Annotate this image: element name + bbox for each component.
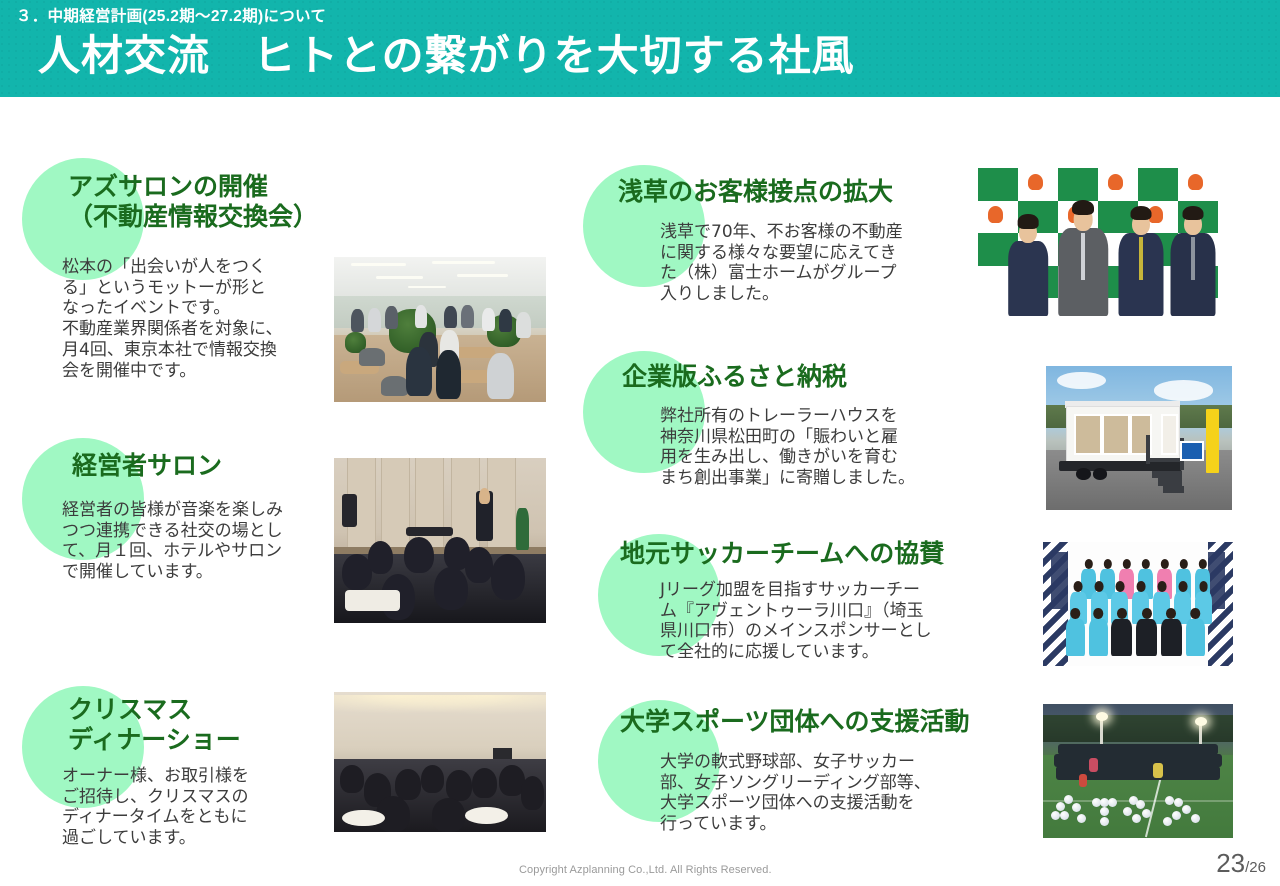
heading-corporate-furusato-tax: 企業版ふるさと納税 <box>622 363 1022 393</box>
photo-christmas-dinner-show-hall <box>334 692 546 832</box>
photo-trailer-house <box>1046 366 1232 510</box>
body-asakusa-customer-contact: 浅草で70年、不お客様の不動産 に関する様々な要望に応えてき た（株）富士ホーム… <box>660 222 960 305</box>
photo-keieisha-salon-banquet <box>334 458 546 623</box>
heading-local-soccer-sponsorship: 地元サッカーチームへの協賛 <box>620 540 1040 570</box>
page-number-total: /26 <box>1245 859 1266 876</box>
body-local-soccer-sponsorship: Jリーグ加盟を目指すサッカーチー ム『アヴェントゥーラ川口』（埼玉 県川口市）の… <box>660 580 1000 663</box>
heading-asakusa-customer-contact: 浅草のお客様接点の拡大 <box>618 178 1018 208</box>
heading-az-salon: アズサロンの開催 （不動産情報交換会） <box>68 173 398 232</box>
body-university-sports-support: 大学の軟式野球部、女子サッカー 部、女子ソングリーディング部等、 大学スポーツ団… <box>660 752 1000 835</box>
slide-root: ３．中期経営計画(25.2期～27.2期)について 人材交流 ヒトとの繋がりを大… <box>0 0 1280 886</box>
copyright-text: Copyright Azplanning Co.,Ltd. All Rights… <box>519 864 772 876</box>
page-number: 23/26 <box>1216 848 1266 879</box>
section-label: ３．中期経営計画(25.2期～27.2期)について <box>16 4 326 26</box>
body-az-salon: 松本の「出会いが人をつく る」というモットーが形と なったイベントです。 不動産… <box>62 257 330 381</box>
body-corporate-furusato-tax: 弊社所有のトレーラーハウスを 神奈川県松田町の「賑わいと雇 用を生み出し、働きが… <box>660 406 980 489</box>
photo-asakusa-group-portrait <box>978 168 1228 316</box>
photo-university-sports-field <box>1043 704 1233 838</box>
body-keieisha-salon: 経営者の皆様が音楽を楽しみ つつ連携できる社交の場とし て、月１回、ホテルやサロ… <box>62 500 334 583</box>
photo-az-salon-office-event <box>334 257 546 402</box>
page-title: 人材交流 ヒトとの繋がりを大切する社風 <box>38 35 855 77</box>
photo-soccer-team <box>1043 542 1233 666</box>
body-christmas-dinner-show: オーナー様、お取引様を ご招待し、クリスマスの ディナータイムをともに 過ごして… <box>62 766 330 849</box>
page-number-current: 23 <box>1216 848 1245 878</box>
heading-university-sports-support: 大学スポーツ団体への支援活動 <box>620 708 1060 738</box>
